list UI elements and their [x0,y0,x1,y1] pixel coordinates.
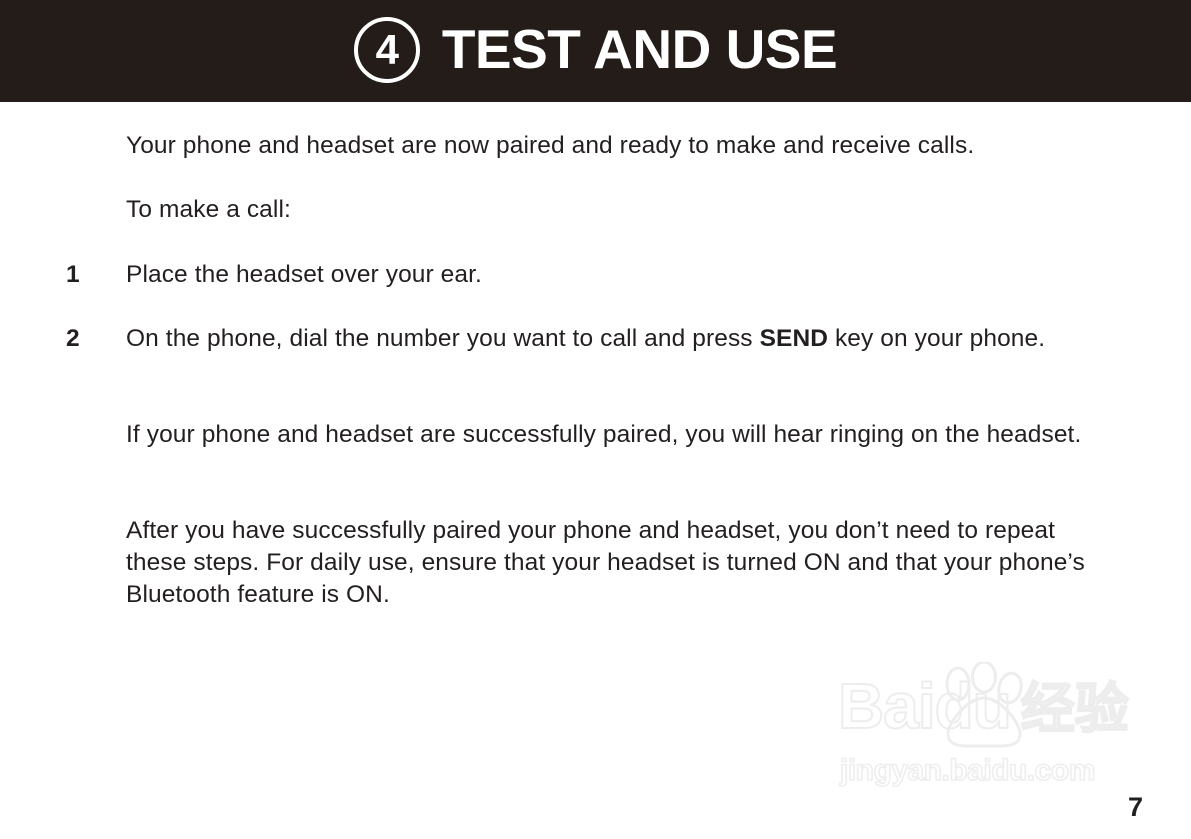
watermark-brand-chinese: 经验 [1021,682,1129,736]
watermark-url: jingyan.baidu.com [840,756,1095,786]
intro-paragraph: Your phone and headset are now paired an… [126,130,1096,162]
note-paragraph: If your phone and headset are successful… [126,419,1096,451]
send-key-emphasis: SEND [760,325,828,352]
page-title: TEST AND USE [442,22,837,77]
watermark-brand-head: Bai [838,670,935,742]
step-text-1-content: Place the headset over your ear. [126,261,482,288]
page-number: 7 [1128,794,1143,821]
watermark-brand-tail: du [935,670,1011,742]
step-text-2-part1: On the phone, dial the number you want t… [126,325,760,352]
section-header-band: 4 TEST AND USE [0,0,1191,102]
closing-paragraph: After you have successfully paired your … [126,515,1096,611]
paw-print-icon [934,662,1030,748]
watermark-brand-text: Baidu [838,674,1011,738]
section-number-label: 4 [376,29,398,71]
step-number-2: 2 [66,323,80,355]
baidu-watermark: Baidu 经验 jingyan.baidu.com [838,662,1138,790]
step-number-1: 1 [66,259,80,291]
step-text-2-part2: key on your phone. [828,325,1045,352]
watermark-logo-row: Baidu 经验 [838,674,1129,738]
step-text-1: Place the headset over your ear. [126,259,1096,291]
section-number-badge: 4 [354,17,420,83]
step-text-2: On the phone, dial the number you want t… [126,323,1096,355]
lead-in-paragraph: To make a call: [126,194,1096,226]
